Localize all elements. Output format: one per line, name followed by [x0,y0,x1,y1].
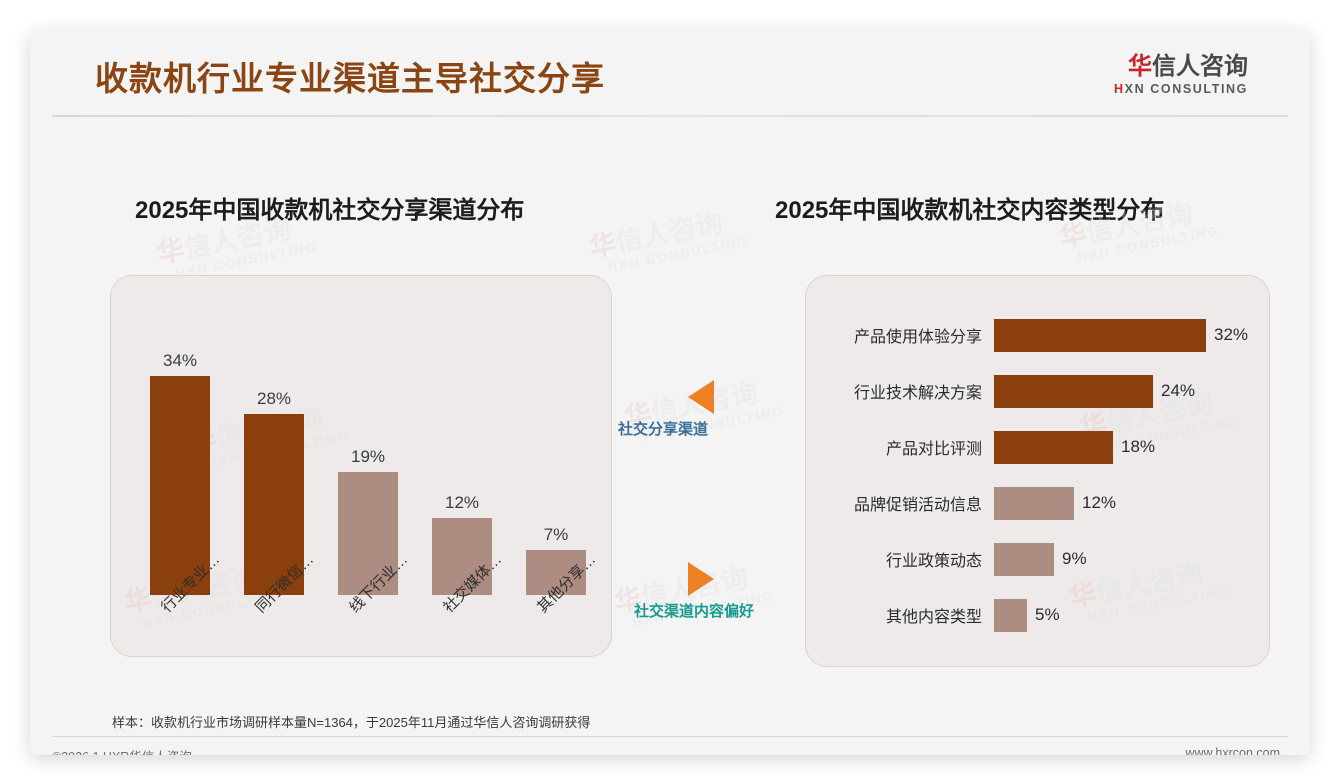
bar-value-label: 5% [1035,605,1060,625]
bar [994,543,1054,576]
brand-logo: 华信人咨询 HXN CONSULTING [1114,54,1248,96]
logo-en-red: H [1114,82,1125,96]
sample-footnote: 样本：收款机行业市场调研样本量N=1364，于2025年11月通过华信人咨询调研… [112,712,590,731]
footer-copyright: ©2026.1 HXR华信人咨询 [52,746,192,755]
header-divider [52,115,1288,117]
bar-row: 品牌促销活动信息12% [830,483,1250,523]
bar-value-label: 34% [163,351,197,371]
page-title: 收款机行业专业渠道主导社交分享 [95,52,605,100]
bar-category-label: 行业技术解决方案 [830,379,994,403]
bar-value-label: 28% [257,389,291,409]
horizontal-bar-chart: 产品使用体验分享32%行业技术解决方案24%产品对比评测18%品牌促销活动信息1… [830,315,1250,651]
bar-value-label: 9% [1062,549,1087,569]
bar-value-label: 12% [1082,493,1116,513]
logo-cn-dark: 信人咨询 [1152,53,1248,80]
bar-row: 产品对比评测18% [830,427,1250,467]
bar-row: 行业技术解决方案24% [830,371,1250,411]
triangle-left-icon [688,380,714,414]
bar [994,431,1113,464]
bar-category-label: 行业政策动态 [830,547,994,571]
watermark: 华信人咨询 HXN CONSULTING [587,205,750,277]
bar-category-label: 其他内容类型 [830,603,994,627]
left-chart-title: 2025年中国收款机社交分享渠道分布 [135,190,524,225]
footer-divider [52,736,1288,737]
right-chart-title: 2025年中国收款机社交内容类型分布 [775,190,1164,225]
bar-row: 产品使用体验分享32% [830,315,1250,355]
triangle-right-icon [688,562,714,596]
footer-website[interactable]: www.hxrcon.com [1186,746,1280,755]
bar-category-label: 品牌促销活动信息 [830,491,994,515]
bar-value-label: 19% [351,447,385,467]
slide-header: 收款机行业专业渠道主导社交分享 华信人咨询 HXN CONSULTING [30,30,1310,116]
logo-cn-red: 华 [1128,53,1152,80]
bar-value-label: 24% [1161,381,1195,401]
bar [994,375,1153,408]
bar-category-label: 产品使用体验分享 [830,323,994,347]
slide-canvas: 收款机行业专业渠道主导社交分享 华信人咨询 HXN CONSULTING 202… [30,30,1310,755]
bar [994,599,1027,632]
logo-chinese-text: 华信人咨询 [1114,54,1248,80]
logo-english-text: HXN CONSULTING [1114,82,1248,96]
bar-category-label: 产品对比评测 [830,435,994,459]
logo-en-rest: XN CONSULTING [1125,82,1248,96]
bar-row: 其他内容类型5% [830,595,1250,635]
arrow-top-label: 社交分享渠道 [618,418,714,439]
bar-value-label: 12% [445,493,479,513]
bar-value-label: 18% [1121,437,1155,457]
bar-row: 行业政策动态9% [830,539,1250,579]
bar [994,487,1074,520]
social-share-channel-callout: 社交分享渠道 [618,380,714,439]
bar-value-label: 32% [1214,325,1248,345]
bar-value-label: 7% [544,525,569,545]
bar [994,319,1206,352]
arrow-bottom-label: 社交渠道内容偏好 [634,600,754,621]
social-content-preference-callout: 社交渠道内容偏好 [626,562,754,621]
